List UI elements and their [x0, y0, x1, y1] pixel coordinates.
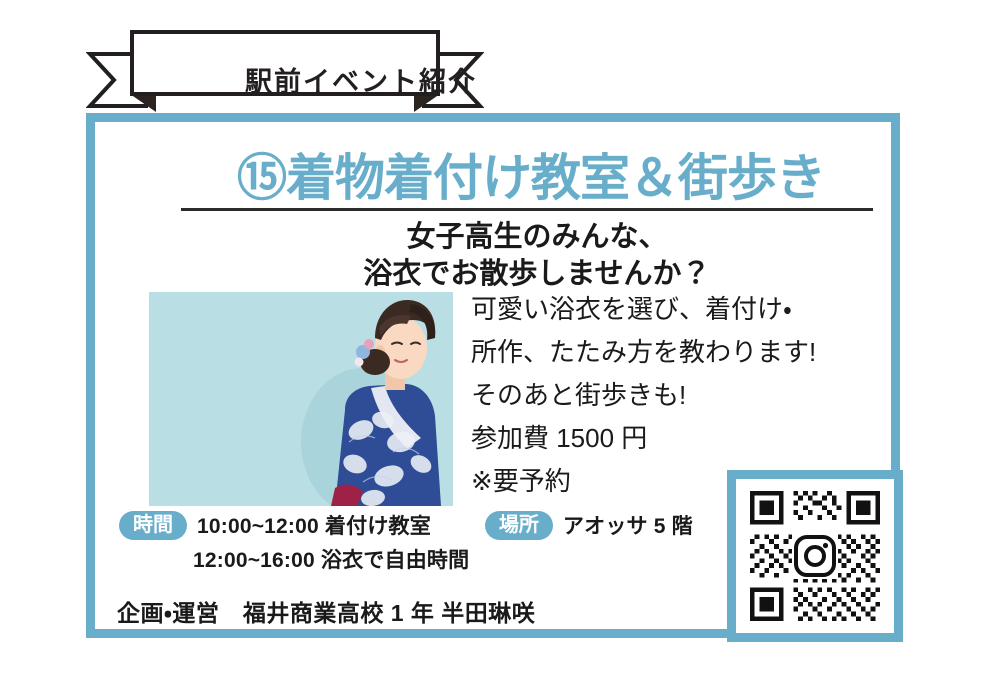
banner-label: 駅前イベント紹介	[216, 69, 506, 96]
time-row-1: 時間 10:00~12:00 着付け教室 場所 アオッサ 5 階	[119, 508, 889, 542]
title-text: ⑮着物着付け教室＆街歩き	[181, 152, 881, 204]
page-title: ⑮着物着付け教室＆街歩き	[181, 152, 881, 204]
subtitle: 女子高生のみんな、 浴衣でお散歩しませんか？	[201, 219, 873, 293]
subtitle-line-1: 女子高生のみんな、	[201, 219, 873, 256]
flyer-frame: ⑮着物着付け教室＆街歩き 女子高生のみんな、 浴衣でお散歩しませんか？	[86, 113, 900, 638]
event-flyer: 駅前イベント紹介 ⑮着物着付け教室＆街歩き 女子高生のみんな、 浴衣でお散歩しま…	[0, 0, 1000, 700]
place-value: アオッサ 5 階	[563, 510, 693, 540]
time-value-1: 10:00~12:00 着付け教室	[197, 510, 431, 540]
time-row-2: 12:00~16:00 浴衣で自由時間	[119, 542, 889, 576]
title-divider	[181, 208, 873, 211]
description-line-2: 所作、たたみ方を教わります!	[471, 331, 901, 374]
description-line-3: そのあと街歩きも!	[471, 374, 901, 417]
event-photo	[149, 292, 453, 506]
info-block: 時間 10:00~12:00 着付け教室 場所 アオッサ 5 階 12:00~1…	[119, 508, 889, 576]
credit-line: 企画・運営 福井商業高校 1 年 半田琳咲	[117, 594, 535, 628]
description-line-1: 可愛い浴衣を選び、着付け・	[471, 288, 901, 331]
time-badge: 時間	[119, 511, 187, 540]
ribbon-banner: 駅前イベント紹介	[86, 28, 484, 112]
description-line-4: 参加費 1500 円	[471, 417, 901, 460]
place-badge: 場所	[485, 511, 553, 540]
time-value-2: 12:00~16:00 浴衣で自由時間	[193, 544, 469, 574]
